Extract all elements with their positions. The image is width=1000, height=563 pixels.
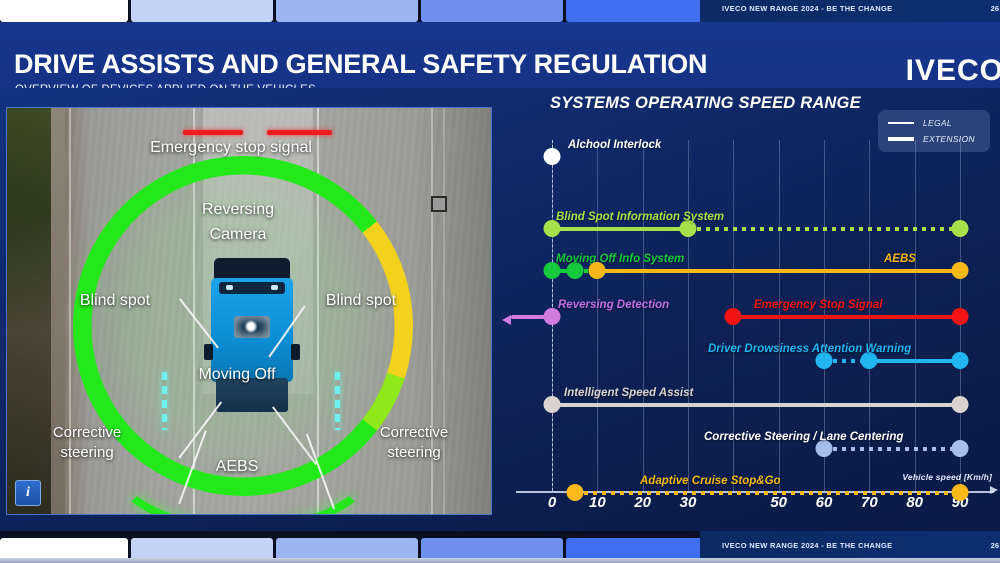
marker-end bbox=[952, 352, 969, 369]
top-brand-text: IVECO NEW RANGE 2024 - BE THE CHANGE bbox=[722, 4, 892, 13]
marker-start bbox=[544, 148, 561, 165]
chart-plot-area: Vehicle speed [Km/h] 01020305060708090Al… bbox=[496, 88, 1000, 531]
strip-seg-1 bbox=[0, 0, 128, 22]
photo-label-aebs: AEBS bbox=[167, 458, 307, 476]
marker-end bbox=[952, 308, 969, 325]
truck-headlight-right bbox=[271, 285, 278, 290]
marker-start bbox=[544, 396, 561, 413]
vehicle-overview-image: Emergency stop signal Reversing Camera B… bbox=[6, 107, 492, 515]
bottom-divider bbox=[0, 558, 1000, 563]
strip-seg-5 bbox=[566, 0, 708, 22]
bottom-bar: IVECO NEW RANGE 2024 - BE THE CHANGE 26 bbox=[0, 531, 1000, 563]
roadside-post-icon bbox=[431, 196, 447, 212]
slide: IVECO NEW RANGE 2024 - BE THE CHANGE 26 … bbox=[0, 0, 1000, 563]
chart-row-intelligent-speed-assist: Intelligent Speed Assist bbox=[496, 392, 1000, 418]
series-label-intelligent-speed-assist: Intelligent Speed Assist bbox=[564, 387, 693, 399]
slide-body: Emergency stop signal Reversing Camera B… bbox=[0, 88, 1000, 531]
segment-legal-5 bbox=[733, 315, 960, 319]
marker-end bbox=[952, 262, 969, 279]
bottom-brand-text: IVECO NEW RANGE 2024 - BE THE CHANGE bbox=[722, 541, 892, 550]
truck-mirror-right bbox=[291, 344, 300, 360]
segment-legal-1 bbox=[552, 227, 688, 231]
chart-row-blind-spot-information-system: Blind Spot Information System bbox=[496, 216, 1000, 242]
bottom-strip-seg-2 bbox=[131, 538, 273, 558]
emergency-stop-lamp-left bbox=[183, 130, 243, 135]
strip-seg-2 bbox=[131, 0, 273, 22]
chart-row-alchool-interlock: Alchool Interlock bbox=[496, 144, 1000, 170]
series-label-alchool-interlock: Alchool Interlock bbox=[568, 139, 661, 151]
truck-mirror-left bbox=[204, 344, 213, 360]
segment-extension-8 bbox=[824, 447, 960, 451]
chart-row-driver-drowsiness-attention-warning: Driver Drowsiness Attention Warning bbox=[496, 348, 1000, 374]
strip-seg-4 bbox=[421, 0, 563, 22]
top-decorative-strip: IVECO NEW RANGE 2024 - BE THE CHANGE 26 bbox=[0, 0, 1000, 22]
series-label-aebs: AEBS bbox=[884, 253, 916, 265]
iveco-logo: IVECO bbox=[906, 54, 1000, 88]
photo-label-corrective-steering-left-line1: Corrective bbox=[17, 425, 157, 442]
marker-start bbox=[566, 484, 583, 501]
segment-extension-1 bbox=[688, 227, 960, 231]
bottom-page-number: 26 bbox=[991, 541, 999, 550]
series-label-blind-spot-information-system: Blind Spot Information System bbox=[556, 211, 724, 223]
strip-seg-3 bbox=[276, 0, 418, 22]
photo-label-reversing-camera-line1: Reversing bbox=[158, 201, 318, 219]
page-title: DRIVE ASSISTS AND GENERAL SAFETY REGULAT… bbox=[14, 49, 707, 80]
corrective-steering-lane-right bbox=[335, 372, 340, 430]
marker-end bbox=[952, 396, 969, 413]
series-label-corrective-steering-lane-centering: Corrective Steering / Lane Centering bbox=[704, 431, 903, 443]
truck-light-glint bbox=[244, 320, 258, 333]
bottom-strip-seg-4 bbox=[421, 538, 563, 558]
top-page-number: 26 bbox=[991, 4, 999, 13]
bottom-strip-seg-3 bbox=[276, 538, 418, 558]
bottom-strip-seg-5 bbox=[566, 538, 708, 558]
segment-legal-3 bbox=[597, 269, 960, 273]
marker-end bbox=[952, 220, 969, 237]
series-label-emergency-stop-signal: Emergency Stop Signal bbox=[754, 299, 882, 311]
marker-end bbox=[952, 440, 969, 457]
emergency-stop-lamp-right bbox=[267, 130, 332, 135]
photo-label-reversing-camera-line2: Camera bbox=[158, 226, 318, 244]
photo-label-blind-spot-right: Blind spot bbox=[291, 292, 431, 310]
photo-label-emergency-stop-signal: Emergency stop signal bbox=[61, 139, 401, 157]
series-label-adaptive-cruise-stop-go: Adaptive Cruise Stop&Go bbox=[640, 475, 781, 487]
photo-label-blind-spot-left: Blind spot bbox=[45, 292, 185, 310]
truck-roof bbox=[214, 258, 290, 280]
photo-label-corrective-steering-right-line1: Corrective bbox=[344, 425, 484, 442]
marker-end bbox=[952, 484, 969, 501]
series-label-driver-drowsiness-attention-warning: Driver Drowsiness Attention Warning bbox=[708, 343, 911, 355]
systems-speed-range-chart: SYSTEMS OPERATING SPEED RANGE LEGAL EXTE… bbox=[496, 88, 1000, 531]
info-icon[interactable]: i bbox=[15, 480, 41, 506]
photo-label-corrective-steering-left-line2: steering bbox=[17, 445, 157, 462]
chart-row-emergency-stop-signal: Emergency Stop Signal bbox=[496, 304, 1000, 330]
segment-legal-7 bbox=[552, 403, 960, 407]
marker-start bbox=[725, 308, 742, 325]
photo-label-corrective-steering-right-line2: steering bbox=[344, 445, 484, 462]
segment-extension-9 bbox=[575, 491, 960, 495]
chart-row-aebs: AEBS bbox=[496, 258, 1000, 284]
marker-start bbox=[589, 262, 606, 279]
bottom-strip-seg-1 bbox=[0, 538, 128, 558]
truck-headlight-left bbox=[226, 285, 233, 290]
slide-header: DRIVE ASSISTS AND GENERAL SAFETY REGULAT… bbox=[0, 22, 1000, 88]
chart-row-adaptive-cruise-stop-go: Adaptive Cruise Stop&Go bbox=[496, 480, 1000, 506]
segment-legal-6 bbox=[869, 359, 960, 363]
photo-label-moving-off: Moving Off bbox=[157, 366, 317, 384]
truck-illustration bbox=[210, 258, 294, 408]
chart-row-corrective-steering-lane-centering: Corrective Steering / Lane Centering bbox=[496, 436, 1000, 462]
